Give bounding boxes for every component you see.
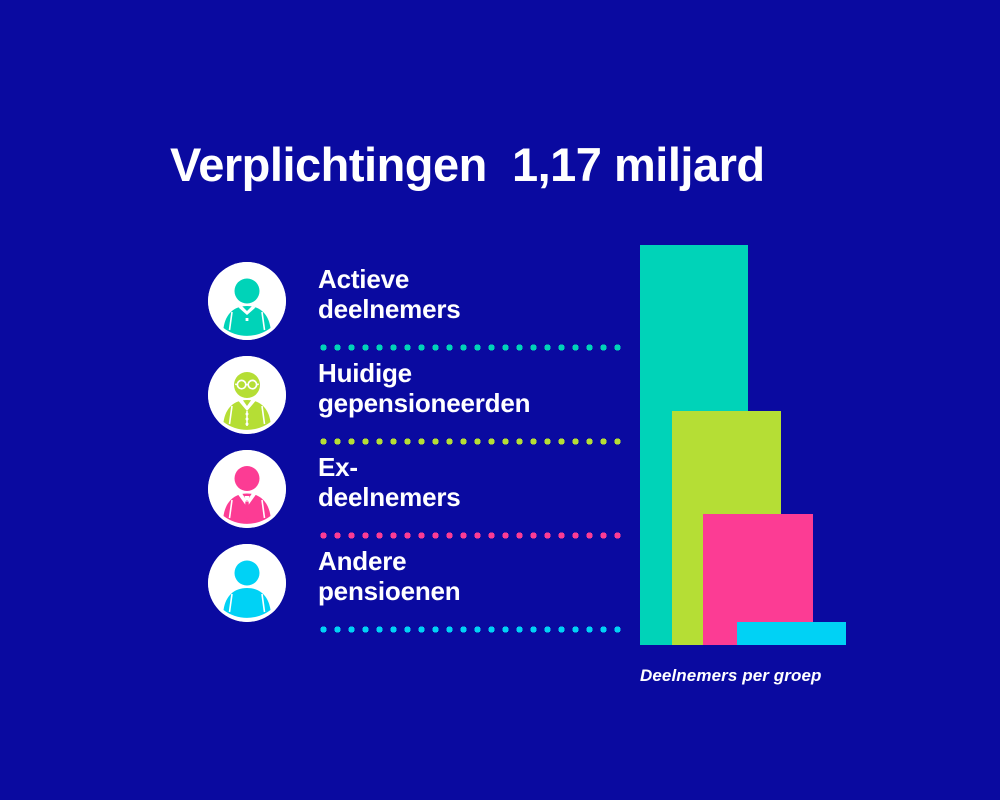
bar-chart — [640, 245, 850, 645]
person-with-glasses-icon — [208, 356, 286, 434]
legend-item-label: Ex- deelnemers — [318, 452, 618, 513]
legend: Actieve deelnemers — [208, 262, 628, 638]
person-icon — [208, 262, 286, 340]
legend-item-ex-deelnemers[interactable]: Ex- deelnemers — [208, 450, 628, 544]
legend-item-huidige-gepensioneerden[interactable]: Huidige gepensioneerden — [208, 356, 628, 450]
legend-item-label: Andere pensioenen — [318, 546, 618, 607]
chart-caption: Deelnemers per groep — [640, 666, 822, 686]
legend-dotted-rule — [320, 626, 624, 633]
infographic-canvas: Verplichtingen 1,17 miljard Actieve deel… — [0, 0, 1000, 800]
legend-item-label: Huidige gepensioneerden — [318, 358, 618, 419]
legend-dotted-rule — [320, 438, 624, 445]
legend-dotted-rule — [320, 532, 624, 539]
legend-dotted-rule — [320, 344, 624, 351]
legend-item-actieve-deelnemers[interactable]: Actieve deelnemers — [208, 262, 628, 356]
person-in-suit-icon — [208, 450, 286, 528]
bar-andere-pensioenen[interactable] — [737, 622, 846, 645]
legend-item-label: Actieve deelnemers — [318, 264, 618, 325]
page-title: Verplichtingen 1,17 miljard — [170, 140, 765, 189]
person-icon — [208, 544, 286, 622]
legend-item-andere-pensioenen[interactable]: Andere pensioenen — [208, 544, 628, 638]
